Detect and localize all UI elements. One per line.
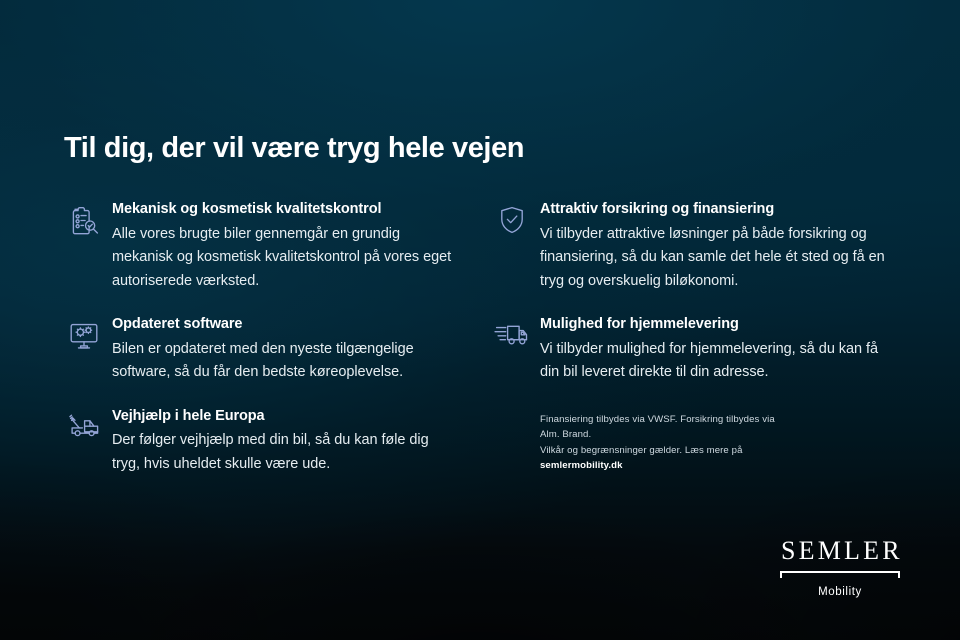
delivery-truck-icon: [484, 315, 540, 359]
feature-text: Opdateret software Bilen er opdateret me…: [112, 315, 460, 385]
logo-rule-tick-left: [780, 571, 782, 578]
feature-title: Opdateret software: [112, 315, 460, 335]
logo-rule-tick-right: [898, 571, 900, 578]
disclaimer-line-1: Finansiering tilbydes via VWSF. Forsikri…: [540, 412, 784, 443]
clipboard-magnifier-icon: [56, 200, 112, 244]
feature-description: Der følger vejhjælp med din bil, så du k…: [112, 429, 460, 476]
feature-item-roadside-assistance: Vejhjælp i hele Europa Der følger vejhjæ…: [56, 407, 484, 477]
page-title: Til dig, der vil være tryg hele vejen: [64, 132, 524, 165]
feature-title: Mekanisk og kosmetisk kvalitetskontrol: [112, 200, 460, 220]
feature-description: Vi tilbyder mulighed for hjemmelevering,…: [540, 338, 888, 385]
tow-truck-icon: [56, 407, 112, 451]
slide-root: Til dig, der vil være tryg hele vejen: [0, 0, 960, 640]
feature-text: Mulighed for hjemmelevering Vi tilbyder …: [540, 315, 888, 385]
feature-grid: Mekanisk og kosmetisk kvalitetskontrol A…: [56, 200, 912, 476]
feature-text: Mekanisk og kosmetisk kvalitetskontrol A…: [112, 200, 460, 293]
logo-wordmark: SEMLER: [778, 538, 902, 564]
feature-text: Vejhjælp i hele Europa Der følger vejhjæ…: [112, 407, 460, 477]
feature-description: Alle vores brugte biler gennemgår en gru…: [112, 223, 460, 293]
feature-item-quality-check: Mekanisk og kosmetisk kvalitetskontrol A…: [56, 200, 484, 293]
feature-item-home-delivery: Mulighed for hjemmelevering Vi tilbyder …: [484, 315, 912, 385]
feature-title: Vejhjælp i hele Europa: [112, 407, 460, 427]
shield-check-icon: [484, 200, 540, 244]
feature-text: Attraktiv forsikring og finansiering Vi …: [540, 200, 888, 293]
disclaimer-line-2-prefix: Vilkår og begrænsninger gælder. Læs mere…: [540, 445, 743, 456]
disclaimer-text: Finansiering tilbydes via VWSF. Forsikri…: [484, 407, 784, 477]
feature-title: Attraktiv forsikring og finansiering: [540, 200, 888, 220]
monitor-gears-icon: [56, 315, 112, 359]
feature-description: Bilen er opdateret med den nyeste tilgæn…: [112, 338, 460, 385]
feature-item-updated-software: Opdateret software Bilen er opdateret me…: [56, 315, 484, 385]
feature-description: Vi tilbyder attraktive løsninger på både…: [540, 223, 888, 293]
slide-content: Til dig, der vil være tryg hele vejen: [0, 0, 960, 640]
feature-item-insurance-financing: Attraktiv forsikring og finansiering Vi …: [484, 200, 912, 293]
logo-subtitle: Mobility: [778, 586, 902, 598]
disclaimer-line-2: Vilkår og begrænsninger gælder. Læs mere…: [540, 443, 784, 474]
disclaimer-website-link[interactable]: semlermobility.dk: [540, 460, 623, 471]
feature-title: Mulighed for hjemmelevering: [540, 315, 888, 335]
logo-rule: [780, 571, 900, 581]
semler-mobility-logo: SEMLER Mobility: [778, 538, 902, 598]
